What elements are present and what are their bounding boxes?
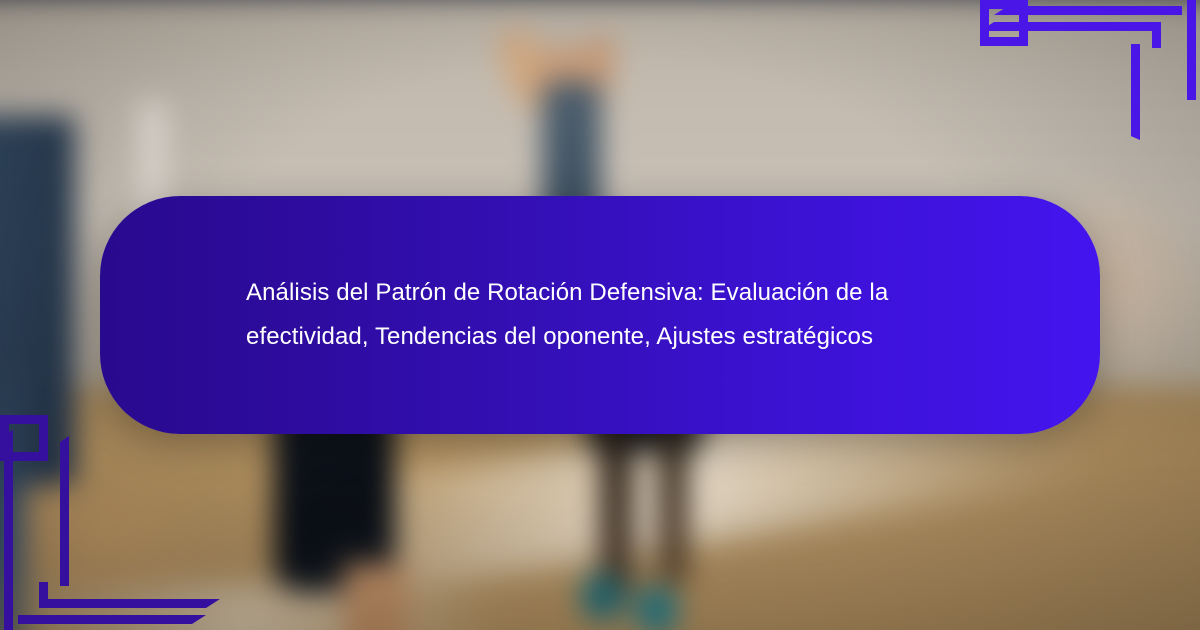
title-card: Análisis del Patrón de Rotación Defensiv… (100, 196, 1100, 434)
ornament-bar-horizontal-second (48, 599, 220, 608)
ornament-bar-vertical-edge (4, 430, 13, 630)
page-title: Análisis del Patrón de Rotación Defensiv… (100, 271, 1100, 359)
ornament-bar-stem (60, 436, 69, 586)
corner-ornament-top-right (980, 0, 1200, 140)
ornament-bar-stem (1131, 44, 1140, 140)
poster-canvas: Análisis del Patrón de Rotación Defensiv… (0, 0, 1200, 630)
ornament-bar-horizontal-second (980, 22, 1152, 31)
ornament-bar-hook (39, 582, 48, 608)
corner-ornament-bottom-left (0, 415, 220, 630)
ornament-bar-horizontal-bottom (18, 615, 206, 624)
ornament-bar-hook (1152, 22, 1161, 48)
ornament-bar-vertical-edge (1187, 0, 1196, 100)
ornament-bar-horizontal-top (994, 6, 1182, 15)
